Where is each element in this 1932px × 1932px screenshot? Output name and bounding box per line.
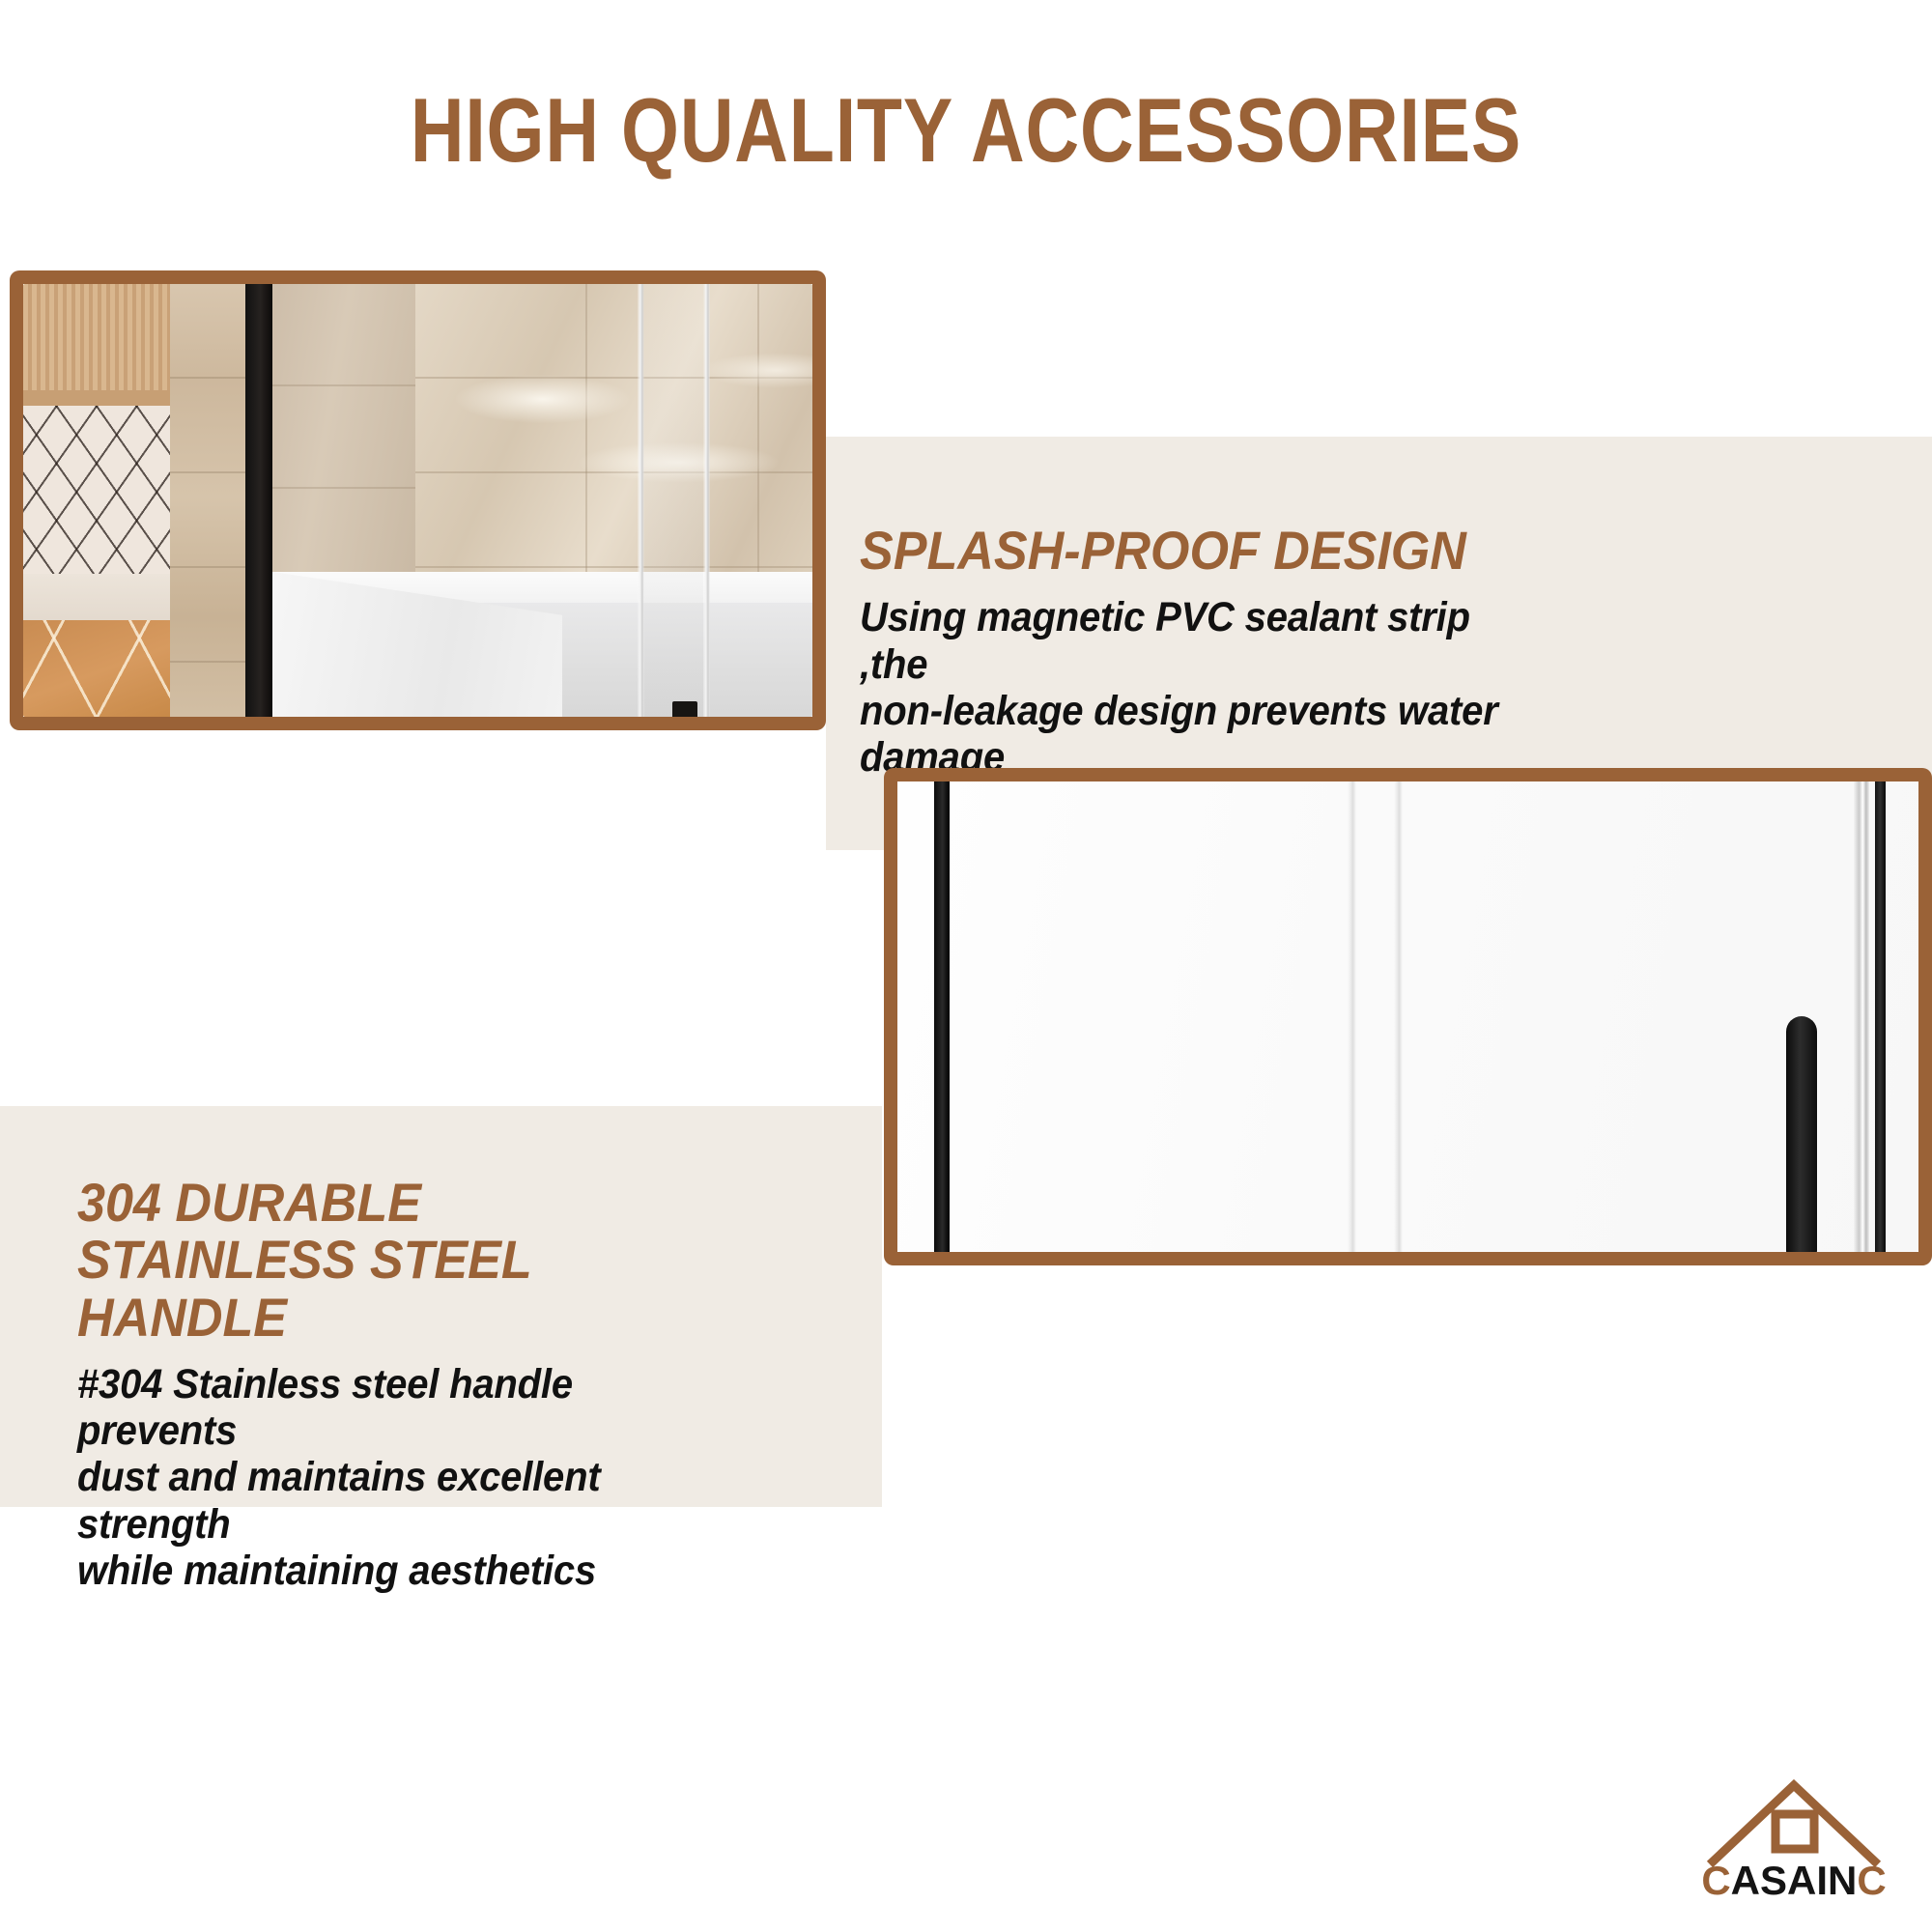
brand-wordmark: CASAINC <box>1683 1861 1905 1901</box>
shower-door-photo-inner <box>897 781 1918 1252</box>
infographic-canvas: HIGH QUALITY ACCESSORIES <box>0 0 1932 1932</box>
page-title: HIGH QUALITY ACCESSORIES <box>174 85 1758 176</box>
stainless-steel-handle <box>1786 1016 1817 1252</box>
door-right-profile <box>1875 781 1886 1252</box>
feature-body-stainless-handle: #304 Stainless steel handle prevents dus… <box>77 1361 652 1594</box>
bathroom-photo-inner <box>23 284 812 717</box>
brand-wordmark-suffix: C <box>1857 1858 1886 1903</box>
door-black-wall-profile <box>934 781 950 1252</box>
stainless-steel-strip <box>1854 781 1869 1252</box>
door-bottom-shoe <box>672 701 697 717</box>
brand-wordmark-middle: ASAIN <box>1731 1858 1858 1903</box>
feature-text-stainless-handle: 304 DURABLE STAINLESS STEEL HANDLE #304 … <box>77 1174 696 1594</box>
glass-panel-divider-2 <box>1394 781 1403 1252</box>
wall-skirting <box>23 574 170 624</box>
shower-door-glass <box>897 781 1918 1252</box>
terracotta-floor-left <box>23 620 170 717</box>
feature-heading-stainless-handle: 304 DURABLE STAINLESS STEEL HANDLE <box>77 1174 652 1346</box>
glass-panel-divider-1 <box>1348 781 1356 1252</box>
product-photo-shower-door <box>884 768 1932 1265</box>
brand-wordmark-prefix: C <box>1701 1858 1730 1903</box>
brand-logo: CASAINC <box>1683 1777 1905 1913</box>
bathroom-scene <box>23 284 812 717</box>
glass-panel <box>644 284 703 717</box>
glass-edge-right <box>703 284 710 717</box>
glass-edge-left <box>638 284 644 717</box>
house-roof-icon <box>1683 1777 1905 1870</box>
side-tiled-wall <box>272 284 415 593</box>
black-door-profile <box>245 284 272 717</box>
herringbone-tile-wall <box>23 406 170 589</box>
product-photo-bathroom <box>10 270 826 730</box>
shower-door-scene <box>897 781 1918 1252</box>
wood-wall-base-trim <box>23 390 170 406</box>
feature-text-splash-proof: SPLASH-PROOF DESIGN Using magnetic PVC s… <box>860 522 1555 781</box>
slatted-wood-wall <box>23 284 170 398</box>
stone-pillar <box>170 284 245 717</box>
back-tiled-wall <box>415 284 812 572</box>
feature-heading-splash-proof: SPLASH-PROOF DESIGN <box>860 522 1507 579</box>
feature-body-splash-proof: Using magnetic PVC sealant strip ,the no… <box>860 594 1507 781</box>
